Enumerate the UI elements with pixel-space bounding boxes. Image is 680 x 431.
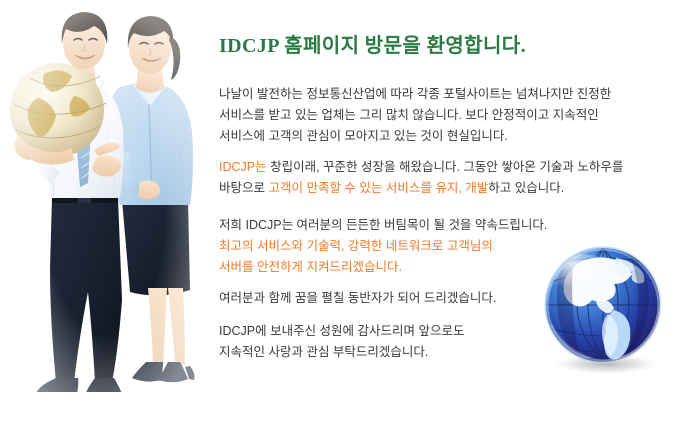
- paragraph-intro: 나날이 발전하는 정보통신산업에 따라 각종 포털사이트는 넘쳐나지만 진정한서…: [219, 84, 611, 147]
- text-line: 나날이 발전하는 정보통신산업에 따라 각종 포털사이트는 넘쳐나지만 진정한: [219, 84, 611, 105]
- welcome-text-column: IDCJP 홈페이지 방문을 환영합니다. 나날이 발전하는 정보통신산업에 따…: [219, 0, 674, 431]
- body-text: 창립이래, 꾸준한 성장을 해왔습니다. 그동안 쌓아온 기술과 노하우를: [267, 160, 624, 174]
- body-text: 서비스에 고객의 관심이 모아지고 있는 것이 현실입니다.: [219, 129, 508, 143]
- text-line: 서비스를 받고 있는 업체는 그리 많치 않습니다. 보다 안정적이고 지속적인: [219, 105, 611, 126]
- business-people-photo: [0, 0, 212, 431]
- paragraph-thanks: IDCJP에 보내주신 성원에 감사드리며 앞으로도지속적인 사랑과 관심 부탁…: [219, 321, 465, 363]
- highlighted-text: IDCJP는: [219, 160, 267, 174]
- body-text: 바탕으로: [219, 181, 268, 195]
- body-text: 저희 IDCJP는 여러분의 든든한 버팀목이 될 것을 약속드립니다.: [219, 218, 547, 232]
- text-line: 바탕으로 고객이 만족할 수 있는 서비스를 유지, 개발하고 있습니다.: [219, 178, 623, 199]
- text-line: 지속적인 사랑과 관심 부탁드리겠습니다.: [219, 342, 465, 363]
- text-line: 저희 IDCJP는 여러분의 든든한 버팀목이 될 것을 약속드립니다.: [219, 215, 547, 236]
- body-text: IDCJP에 보내주신 성원에 감사드리며 앞으로도: [219, 324, 465, 338]
- text-line: 최고의 서비스와 기술력, 강력한 네트워크로 고객님의: [219, 236, 547, 257]
- body-text: 서비스를 받고 있는 업체는 그리 많치 않습니다. 보다 안정적이고 지속적인: [219, 108, 599, 122]
- paragraph-promise: 저희 IDCJP는 여러분의 든든한 버팀목이 될 것을 약속드립니다.최고의 …: [219, 215, 547, 278]
- body-text: 하고 있습니다.: [488, 181, 564, 195]
- body-text: 지속적인 사랑과 관심 부탁드리겠습니다.: [219, 345, 428, 359]
- highlighted-text: 최고의 서비스와 기술력, 강력한 네트워크로 고객님의: [219, 239, 493, 253]
- highlighted-text: 고객이 만족할 수 있는 서비스를 유지, 개발: [268, 181, 488, 195]
- body-text: 여러분과 함께 꿈을 펼칠 동반자가 되어 드리겠습니다.: [219, 291, 496, 305]
- text-line: 서버를 안전하게 지켜드리겠습니다.: [219, 257, 547, 278]
- page-title: IDCJP 홈페이지 방문을 환영합니다.: [219, 29, 526, 58]
- text-line: IDCJP는 창립이래, 꾸준한 성장을 해왔습니다. 그동안 쌓아온 기술과 …: [219, 157, 623, 178]
- welcome-page: IDCJP 홈페이지 방문을 환영합니다. 나날이 발전하는 정보통신산업에 따…: [0, 0, 680, 431]
- text-line: 여러분과 함께 꿈을 펼칠 동반자가 되어 드리겠습니다.: [219, 288, 496, 309]
- paragraph-partner: 여러분과 함께 꿈을 펼칠 동반자가 되어 드리겠습니다.: [219, 288, 496, 309]
- body-text: 나날이 발전하는 정보통신산업에 따라 각종 포털사이트는 넘쳐나지만 진정한: [219, 87, 611, 101]
- text-line: 서비스에 고객의 관심이 모아지고 있는 것이 현실입니다.: [219, 126, 611, 147]
- highlighted-text: 서버를 안전하게 지켜드리겠습니다.: [219, 260, 402, 274]
- text-line: IDCJP에 보내주신 성원에 감사드리며 앞으로도: [219, 321, 465, 342]
- paragraph-growth: IDCJP는 창립이래, 꾸준한 성장을 해왔습니다. 그동안 쌓아온 기술과 …: [219, 157, 623, 199]
